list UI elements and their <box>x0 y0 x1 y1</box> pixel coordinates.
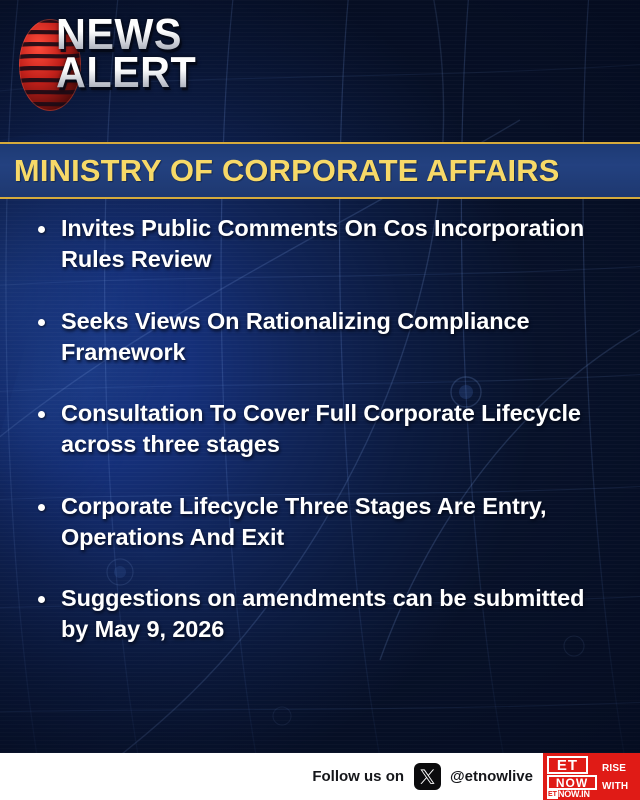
bullet-dot-icon <box>38 226 45 233</box>
etnow-now-text: NOW <box>547 775 597 790</box>
etnow-url-text: NOW.IN <box>558 789 590 799</box>
news-alert-header: NEWS ALERT <box>0 0 640 142</box>
bullet-list: Invites Public Comments On Cos Incorpora… <box>0 213 640 676</box>
bullet-dot-icon <box>38 411 45 418</box>
news-alert-card: NEWS ALERT MINISTRY OF CORPORATE AFFAIRS… <box>0 0 640 800</box>
bullet-dot-icon <box>38 596 45 603</box>
list-item: Consultation To Cover Full Corporate Lif… <box>0 398 640 461</box>
etnow-wordmark: ET NOW ET NOW.IN <box>543 753 599 800</box>
etnow-tagline-line-2: WITH <box>602 781 628 792</box>
news-alert-title: NEWS ALERT <box>56 16 205 92</box>
bullet-text: Corporate Lifecycle Three Stages Are Ent… <box>61 491 614 554</box>
etnow-et-text: ET <box>547 756 588 774</box>
list-item: Seeks Views On Rationalizing Compliance … <box>0 306 640 369</box>
etnow-website-url: ET NOW.IN <box>547 789 590 799</box>
footer-bar: Follow us on @etnowlive ET NOW ET NOW.IN… <box>0 753 640 800</box>
bullet-text: Invites Public Comments On Cos Incorpora… <box>61 213 614 276</box>
news-alert-line-2: ALERT <box>56 54 196 92</box>
bullet-dot-icon <box>38 319 45 326</box>
bullet-text: Consultation To Cover Full Corporate Lif… <box>61 398 614 461</box>
list-item: Suggestions on amendments can be submitt… <box>0 583 640 646</box>
list-item: Corporate Lifecycle Three Stages Are Ent… <box>0 491 640 554</box>
x-twitter-icon[interactable] <box>414 763 441 790</box>
etnow-logo[interactable]: ET NOW ET NOW.IN RISE WITH INDIA <box>543 753 640 800</box>
etnow-url-badge: ET <box>547 790 558 799</box>
bullet-text: Seeks Views On Rationalizing Compliance … <box>61 306 614 369</box>
headline-title: MINISTRY OF CORPORATE AFFAIRS <box>0 153 560 189</box>
bullet-text: Suggestions on amendments can be submitt… <box>61 583 614 646</box>
follow-us-label: Follow us on <box>312 768 404 785</box>
bullet-dot-icon <box>38 504 45 511</box>
etnow-tagline-line-1: RISE <box>602 763 626 774</box>
etnow-tagline: RISE WITH INDIA <box>599 753 640 800</box>
list-item: Invites Public Comments On Cos Incorpora… <box>0 213 640 276</box>
headline-banner: MINISTRY OF CORPORATE AFFAIRS <box>0 142 640 199</box>
social-handle[interactable]: @etnowlive <box>450 768 533 785</box>
